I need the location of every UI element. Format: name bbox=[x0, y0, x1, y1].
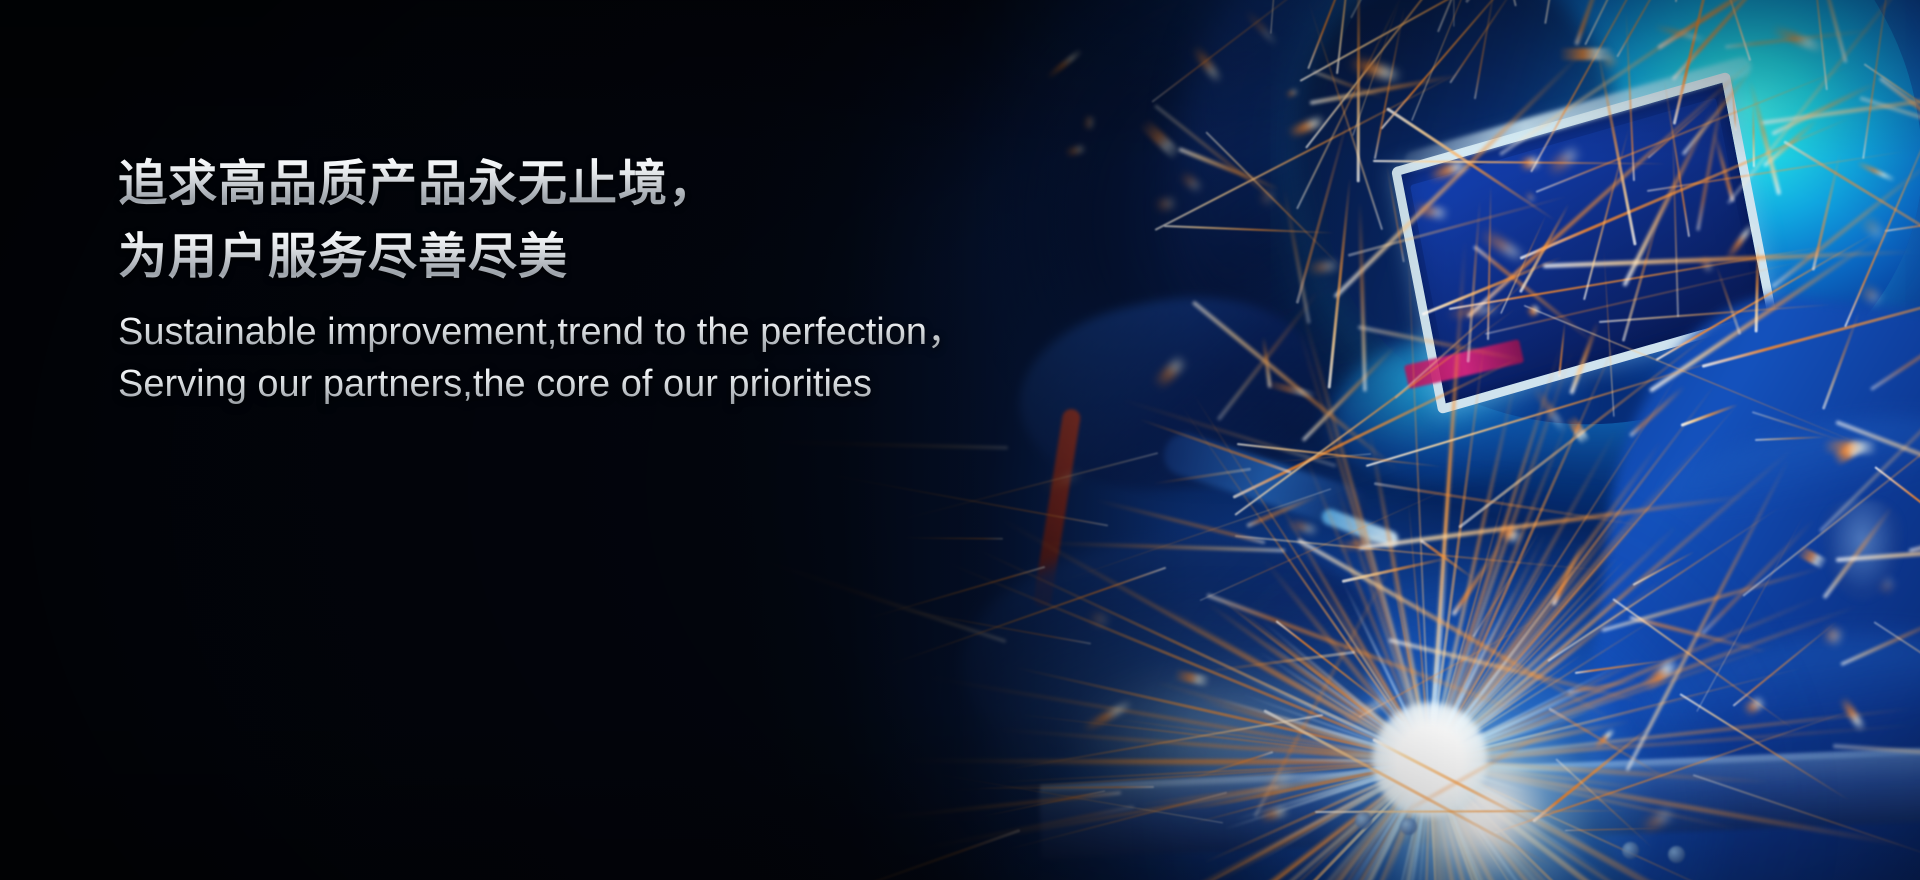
spark-bokeh bbox=[1641, 809, 1675, 833]
subhead-en-line-1: Sustainable improvement,trend to the per… bbox=[118, 306, 1218, 358]
spark-bokeh bbox=[1593, 727, 1616, 750]
spark-bokeh bbox=[1823, 441, 1878, 454]
spark-bokeh bbox=[1526, 305, 1541, 319]
spark-bokeh bbox=[1860, 215, 1885, 241]
spark-bokeh bbox=[1263, 379, 1316, 399]
spark-bokeh bbox=[1532, 386, 1568, 434]
spark-bokeh bbox=[1336, 534, 1383, 551]
spark-bokeh bbox=[1446, 306, 1499, 319]
workpiece-bolt bbox=[1668, 846, 1685, 863]
banner-copy: 追求高品质产品永无止境， 为用户服务尽善尽美 Sustainable impro… bbox=[118, 148, 1218, 410]
spark-bokeh bbox=[1856, 160, 1896, 183]
spark-bokeh bbox=[1339, 696, 1390, 727]
spark-bokeh bbox=[1245, 11, 1278, 47]
spark-bokeh bbox=[1045, 47, 1084, 80]
spark-bokeh bbox=[1796, 545, 1828, 569]
spark-bokeh bbox=[1286, 115, 1326, 138]
spark-bokeh bbox=[1770, 24, 1825, 54]
workpiece-bolt bbox=[1622, 842, 1639, 859]
spark-bokeh bbox=[1742, 696, 1766, 716]
spark-bokeh bbox=[1173, 669, 1210, 686]
spark-bokeh bbox=[1725, 222, 1755, 260]
workpiece-bolt bbox=[1400, 818, 1417, 835]
spark-bokeh bbox=[1084, 117, 1095, 129]
subhead-en-line-2: Serving our partners,the core of our pri… bbox=[118, 358, 1218, 410]
workpiece-bolt bbox=[1355, 812, 1372, 829]
spark-bokeh bbox=[1498, 523, 1523, 544]
spark-bokeh bbox=[1308, 261, 1339, 271]
spark-bokeh bbox=[1090, 614, 1107, 625]
spark-bokeh bbox=[1286, 519, 1319, 536]
welding-photo bbox=[0, 0, 1920, 880]
floating-sparks bbox=[0, 0, 1920, 880]
spark-bokeh bbox=[1559, 48, 1613, 60]
spark-bokeh bbox=[1254, 767, 1295, 809]
spark-bokeh bbox=[1525, 192, 1535, 202]
spark-bokeh bbox=[1566, 414, 1590, 445]
spark-bokeh bbox=[1655, 24, 1708, 42]
hero-banner: 追求高品质产品永无止境， 为用户服务尽善尽美 Sustainable impro… bbox=[0, 0, 1920, 880]
spark-bokeh bbox=[1640, 657, 1680, 693]
spark-bokeh bbox=[1839, 695, 1867, 732]
spark-bokeh bbox=[1880, 577, 1896, 595]
spark-bokeh bbox=[1286, 89, 1299, 98]
headline-cn-line-2: 为用户服务尽善尽美 bbox=[118, 221, 1218, 294]
spark-bokeh bbox=[1412, 203, 1450, 221]
spark-bokeh bbox=[1824, 628, 1841, 643]
spark-bokeh bbox=[1258, 806, 1289, 821]
spark-bokeh bbox=[1544, 145, 1582, 178]
spark-bokeh bbox=[1191, 44, 1223, 84]
spark-bokeh bbox=[1082, 699, 1134, 733]
spark-bokeh bbox=[1428, 158, 1471, 182]
spark-bokeh bbox=[1479, 229, 1526, 262]
spark-bokeh bbox=[1519, 156, 1541, 169]
spark-bokeh bbox=[1260, 190, 1274, 204]
headline-cn-line-1: 追求高品质产品永无止境， bbox=[118, 148, 1218, 221]
spark-bokeh bbox=[1348, 56, 1403, 83]
spark-bokeh bbox=[1041, 471, 1081, 491]
spark-bokeh bbox=[1859, 284, 1883, 305]
spark-bokeh bbox=[1700, 257, 1712, 272]
